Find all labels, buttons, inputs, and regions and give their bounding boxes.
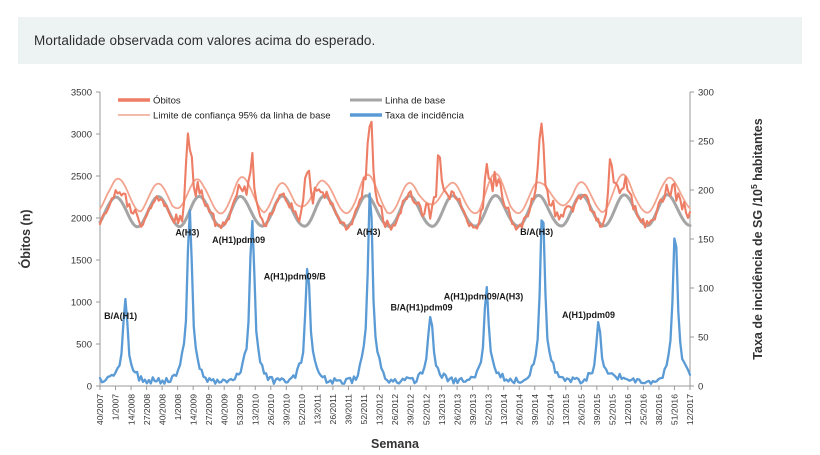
y-right-tick-label: 100 [698, 283, 714, 294]
x-tick-label: 38/2016 [654, 394, 664, 425]
x-tick-label: 39/2015 [592, 394, 602, 425]
x-axis-ticks: 40/20071/200714/200827/200840/20081/2008… [95, 386, 695, 425]
callout-band: Mortalidade observada com valores acima … [18, 17, 802, 64]
x-tick-label: 26/2010 [266, 394, 276, 425]
x-tick-label: 26/2015 [577, 394, 587, 425]
x-tick-label: 51/2016 [670, 394, 680, 425]
x-tick-label: 52/2014 [545, 394, 555, 425]
x-tick-label: 13/2013 [437, 394, 447, 425]
chart-annotation: A(H1)pdm09/A(H3) [444, 291, 524, 301]
chart-annotation: A(H1)pdm09 [562, 310, 615, 320]
x-tick-label: 40/2007 [95, 394, 105, 425]
x-tick-label: 13/2011 [313, 394, 323, 425]
y-left-tick-label: 0 [87, 381, 92, 392]
x-tick-label: 39/2011 [344, 394, 354, 425]
y-right-tick-label: 50 [698, 332, 709, 343]
y-left-tick-label: 1500 [71, 255, 92, 266]
x-tick-label: 52/2012 [421, 394, 431, 425]
x-tick-label: 14/2009 [188, 394, 198, 425]
callout-text: Mortalidade observada com valores acima … [18, 33, 375, 48]
y-left-tick-label: 2000 [71, 213, 92, 224]
x-tick-label: 52/2013 [483, 394, 493, 425]
x-tick-label: 12/2016 [623, 394, 633, 425]
x-tick-label: 1/2008 [173, 394, 183, 421]
x-tick-label: 27/2008 [142, 394, 152, 425]
chart-annotation: B/A(H1)pdm09 [391, 302, 453, 312]
x-tick-label: 26/2011 [328, 394, 338, 425]
screenshot-root: Mortalidade observada com valores acima … [0, 0, 820, 455]
chart-annotation: B/A(H3) [520, 227, 553, 237]
chart-annotation: A(H1)pdm09 [212, 235, 265, 245]
x-tick-label: 26/2014 [514, 394, 524, 425]
chart-canvas: 0500100015002000250030003500 05010015020… [0, 70, 820, 455]
x-tick-label: 52/2010 [297, 394, 307, 425]
legend-label: Limite de confiança 95% da linha de base [153, 110, 331, 121]
series-limite-confianca [100, 174, 690, 214]
y-right-tick-label: 300 [698, 87, 714, 98]
y-axis-left-ticks: 0500100015002000250030003500 [71, 87, 100, 392]
legend-label: Óbitos [153, 95, 181, 106]
x-tick-label: 14/2008 [126, 394, 136, 425]
x-tick-label: 39/2013 [468, 394, 478, 425]
x-tick-label: 39/2010 [282, 394, 292, 425]
y-left-tick-label: 3500 [71, 87, 92, 98]
x-tick-label: 40/2009 [219, 394, 229, 425]
x-tick-label: 26/2013 [452, 394, 462, 425]
x-tick-label: 13/2010 [250, 394, 260, 425]
y-axis-right-title: Taxa de incidência de SG /105 habitantes [749, 118, 765, 359]
legend-label: Linha de base [385, 95, 445, 106]
x-tick-label: 27/2009 [204, 394, 214, 425]
y-left-tick-label: 500 [76, 339, 92, 350]
y-left-tick-label: 1000 [71, 297, 92, 308]
x-tick-label: 1/2007 [111, 394, 121, 421]
x-tick-label: 39/2012 [406, 394, 416, 425]
y-axis-right-ticks: 050100150200250300 [690, 87, 714, 392]
x-tick-label: 13/2012 [375, 394, 385, 425]
chart-legend: ÓbitosLimite de confiança 95% da linha d… [118, 95, 465, 121]
x-tick-label: 40/2008 [157, 394, 167, 425]
chart-annotation: A(H3) [175, 228, 199, 238]
y-right-tick-label: 250 [698, 136, 714, 147]
x-tick-label: 52/2015 [608, 394, 618, 425]
chart-annotation: A(H3) [356, 227, 380, 237]
x-tick-label: 25/2016 [639, 394, 649, 425]
y-left-tick-label: 2500 [71, 171, 92, 182]
x-tick-label: 26/2012 [390, 394, 400, 425]
y-right-tick-label: 150 [698, 234, 714, 245]
y-right-tick-label: 200 [698, 185, 714, 196]
x-tick-label: 13/2014 [499, 394, 509, 425]
influenza-mortality-chart: 0500100015002000250030003500 05010015020… [0, 70, 820, 455]
data-series-group [100, 122, 690, 384]
x-tick-label: 53/2009 [235, 394, 245, 425]
chart-annotation: A(H1)pdm09/B [264, 271, 327, 281]
x-tick-label: 39/2014 [530, 394, 540, 425]
x-tick-label: 52/2011 [359, 394, 369, 425]
x-axis-title: Semana [371, 437, 420, 451]
y-axis-left-title: Óbitos (n) [18, 209, 33, 268]
y-left-tick-label: 3000 [71, 129, 92, 140]
chart-annotation: B/A(H1) [104, 311, 137, 321]
legend-label: Taxa de incidência [385, 110, 465, 121]
x-tick-label: 13/2015 [561, 394, 571, 425]
y-right-tick-label: 0 [698, 381, 703, 392]
x-tick-label: 12/2017 [685, 394, 695, 425]
